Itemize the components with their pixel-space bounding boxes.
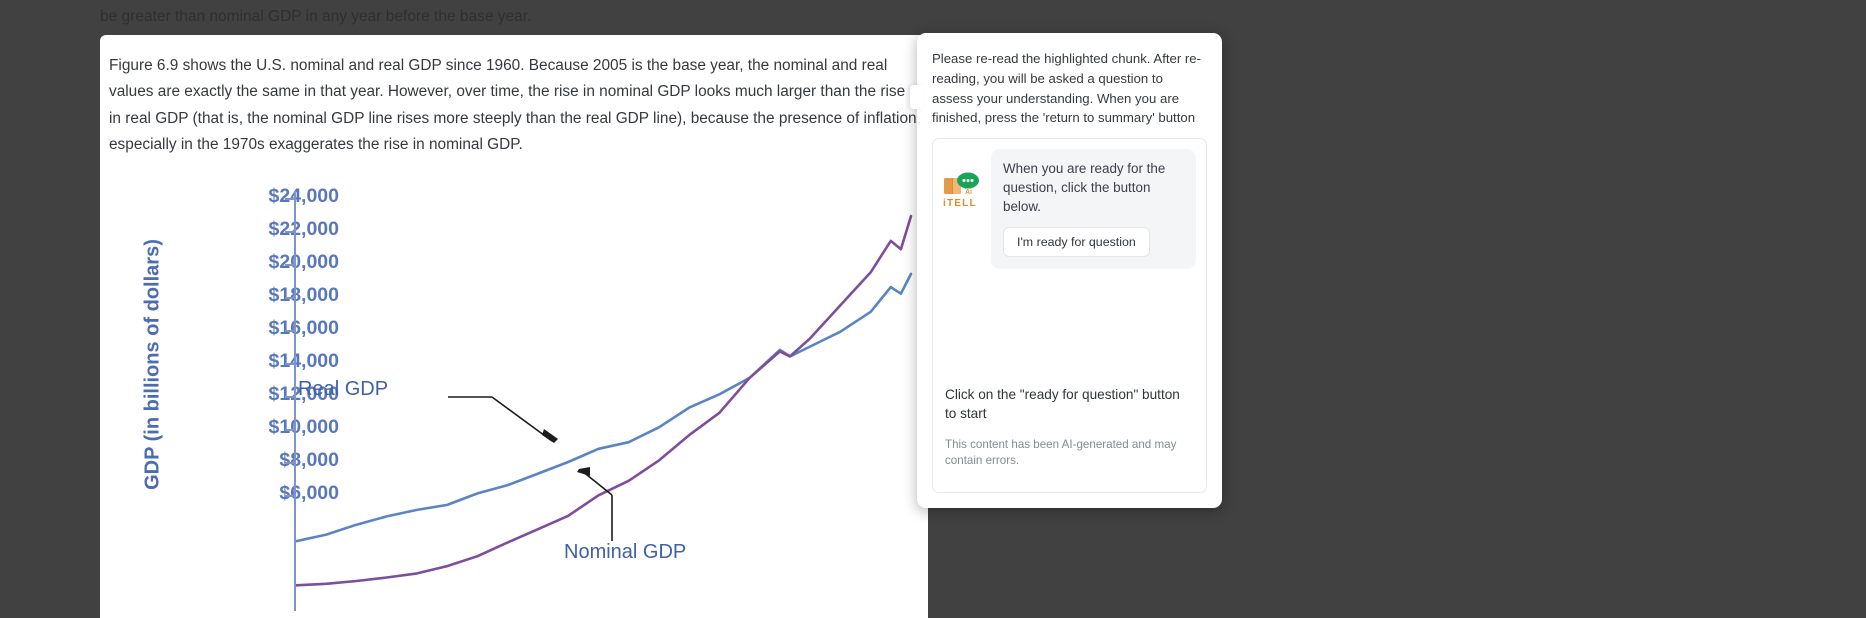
y-tick-mark [285,462,295,464]
nominal-gdp-label: Nominal GDP [564,541,686,564]
y-tick-mark [285,231,295,233]
reading-content-card: Figure 6.9 shows the U.S. nominal and re… [100,35,928,618]
y-tick-mark [285,297,295,299]
gdp-figure: GDP (in billions of dollars) $24,000 $22… [109,185,921,605]
ai-disclaimer-text: This content has been AI-generated and m… [945,437,1194,468]
book-with-chat-bubble-icon: Ai [943,171,981,197]
real-gdp-arrowhead [542,429,558,443]
y-tick-mark [285,396,295,398]
bubble-dot-icon [963,179,966,182]
highlighted-paragraph: Figure 6.9 shows the U.S. nominal and re… [109,53,921,159]
itell-logo: Ai iTELL [943,149,983,209]
real-gdp-line [296,274,911,541]
itell-wordmark: iTELL [943,198,983,209]
assistant-message-text: When you are ready for the question, cli… [1003,159,1184,216]
content-inner: Figure 6.9 shows the U.S. nominal and re… [100,35,928,605]
y-tick-mark [285,264,295,266]
y-tick-mark [285,198,295,200]
nominal-gdp-line [296,216,911,585]
chat-card: Ai iTELL When you are ready for the ques… [932,138,1207,493]
panel-notch [910,85,923,109]
panel-instructions: Please re-read the highlighted chunk. Af… [932,49,1207,128]
screen-root: be greater than nominal GDP in any year … [0,0,1866,618]
chat-message-row: Ai iTELL When you are ready for the ques… [943,149,1196,269]
y-tick-mark [285,429,295,431]
plot-area: Real GDP Nominal GDP [296,185,921,605]
bubble-dot-icon [967,179,970,182]
nominal-gdp-arrowhead [577,467,590,476]
bubble-dot-icon [971,179,974,182]
panel-hint-text: Click on the "ready for question" button… [945,385,1194,423]
ready-for-question-button[interactable]: I'm ready for question [1003,227,1150,257]
y-tick-mark [285,363,295,365]
y-tick-mark [285,495,295,497]
y-axis-title: GDP (in billions of dollars) [142,214,165,514]
ai-badge-text: Ai [965,189,972,196]
previous-paragraph-tail: be greater than nominal GDP in any year … [100,0,920,35]
assistant-message-bubble: When you are ready for the question, cli… [991,149,1196,269]
y-tick-mark [285,330,295,332]
itell-logo-mark: Ai [943,171,981,197]
real-gdp-label: Real GDP [298,378,388,401]
itell-question-panel[interactable]: Please re-read the highlighted chunk. Af… [917,33,1222,508]
